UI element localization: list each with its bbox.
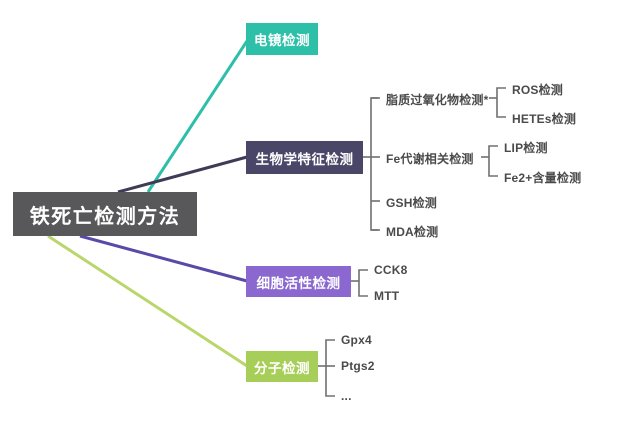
- viability-bracket: [359, 270, 368, 296]
- trunk-line-biological-features: [118, 157, 247, 192]
- root-node[interactable]: 铁死亡检测方法: [13, 192, 197, 236]
- leaf-ros[interactable]: ROS检测: [512, 81, 563, 98]
- branch-node-biological-features[interactable]: 生物学特征检测: [246, 141, 363, 174]
- fe-bracket: [489, 146, 498, 176]
- leaf-mda[interactable]: MDA检测: [386, 223, 438, 240]
- branch-node-molecular[interactable]: 分子检测: [246, 351, 318, 382]
- leaf-fe2-content[interactable]: Fe2+含量检测: [504, 169, 581, 186]
- leaf-gpx4[interactable]: Gpx4: [341, 333, 372, 347]
- branch-label-molecular: 分子检测: [254, 357, 310, 377]
- leaf-fe-metabolism[interactable]: Fe代谢相关检测: [386, 150, 474, 167]
- lipid-bracket: [497, 88, 506, 117]
- branch-node-cell-viability[interactable]: 细胞活性检测: [246, 266, 351, 297]
- bio-bracket: [371, 98, 378, 230]
- leaf-lipid-peroxide[interactable]: 脂质过氧化物检测*: [386, 91, 488, 108]
- leaf-ptgs2[interactable]: Ptgs2: [341, 359, 375, 373]
- mindmap-canvas: 铁死亡检测方法 电镜检测 生物学特征检测 细胞活性检测 分子检测 脂质过氧化物检…: [0, 0, 617, 427]
- leaf-hetes[interactable]: HETEs检测: [512, 110, 576, 127]
- root-node-label: 铁死亡检测方法: [30, 200, 181, 229]
- leaf-gsh[interactable]: GSH检测: [386, 194, 437, 211]
- trunk-line-electron-microscopy: [148, 41, 247, 192]
- branch-label-cell-viability: 细胞活性检测: [257, 272, 341, 292]
- branch-label-biological-features: 生物学特征检测: [256, 148, 354, 168]
- trunk-line-molecular: [48, 236, 247, 366]
- leaf-more[interactable]: ...: [341, 389, 352, 403]
- branch-label-electron-microscopy: 电镜检测: [254, 29, 310, 49]
- branch-node-electron-microscopy[interactable]: 电镜检测: [246, 23, 318, 55]
- leaf-mtt[interactable]: MTT: [374, 289, 399, 303]
- leaf-lip[interactable]: LIP检测: [504, 139, 548, 156]
- trunk-line-cell-viability: [80, 236, 247, 281]
- molecular-bracket: [326, 340, 335, 396]
- leaf-cck8[interactable]: CCK8: [374, 263, 407, 277]
